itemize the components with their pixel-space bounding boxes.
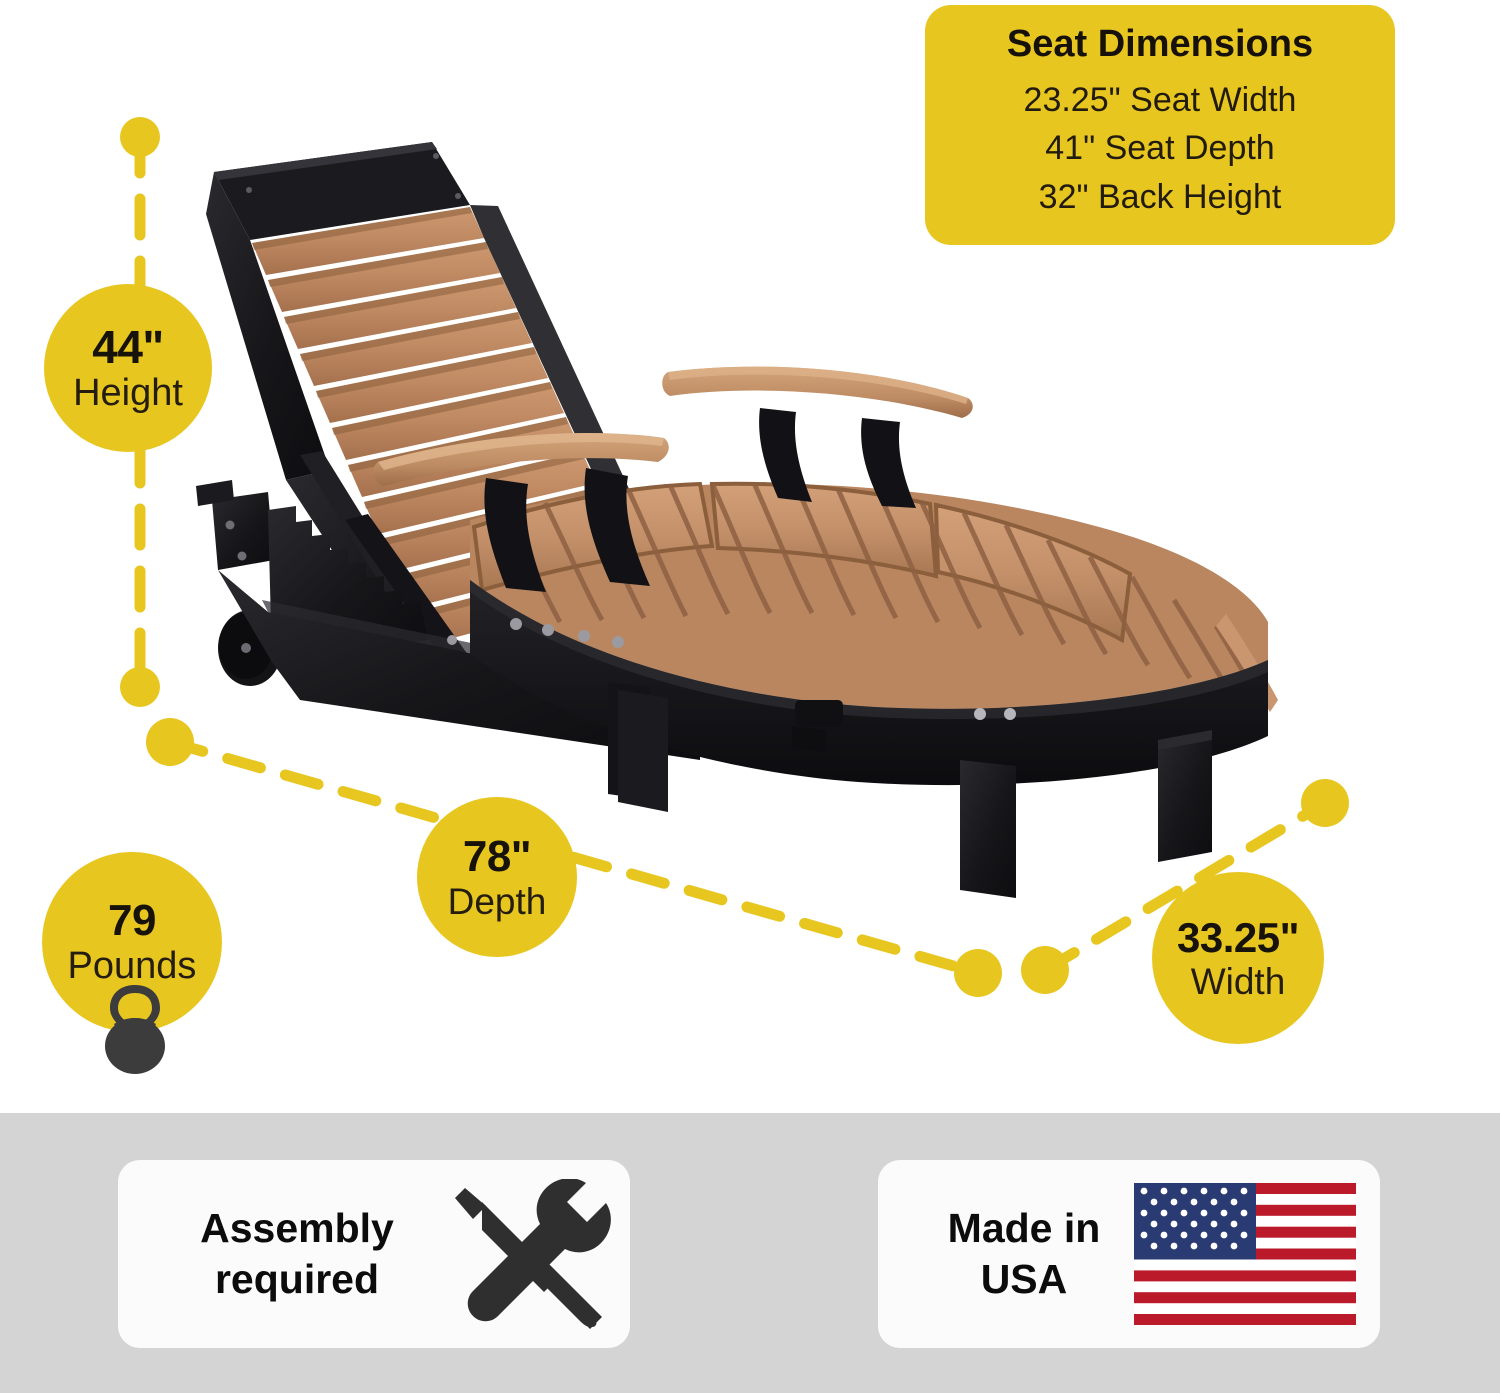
- callout-width-label: Width: [1191, 963, 1286, 1000]
- callout-weight-value: 79: [108, 899, 156, 943]
- seat-width-line: 23.25" Seat Width: [945, 76, 1375, 124]
- assembly-required-badge: Assembly required: [118, 1160, 630, 1348]
- callout-depth: 78" Depth: [417, 797, 577, 957]
- callout-depth-value: 78": [463, 835, 531, 879]
- callout-width: 33.25" Width: [1152, 872, 1324, 1044]
- callout-height: 44" Height: [44, 284, 212, 452]
- seat-depth-line: 41" Seat Depth: [945, 124, 1375, 172]
- back-height-line: 32" Back Height: [945, 173, 1375, 221]
- made-in-usa-label: Made in USA: [914, 1203, 1134, 1306]
- callout-depth-label: Depth: [448, 883, 547, 920]
- callout-height-label: Height: [73, 374, 183, 412]
- tools-icon: [446, 1179, 616, 1329]
- made-in-usa-badge: Made in USA: [878, 1160, 1380, 1348]
- footer-band: Assembly required Made in USA: [0, 1113, 1500, 1393]
- seat-dimensions-card: Seat Dimensions 23.25" Seat Width 41" Se…: [925, 5, 1395, 245]
- callout-width-value: 33.25": [1177, 917, 1299, 959]
- seat-dimensions-title: Seat Dimensions: [945, 23, 1375, 66]
- usa-flag-icon: [1134, 1183, 1356, 1325]
- product-dimension-infographic: 44" Height 78" Depth 33.25" Width 79 Pou…: [0, 0, 1500, 1393]
- assembly-required-label: Assembly required: [148, 1203, 446, 1306]
- callout-height-value: 44": [92, 324, 163, 370]
- kettlebell-icon: [88, 980, 182, 1076]
